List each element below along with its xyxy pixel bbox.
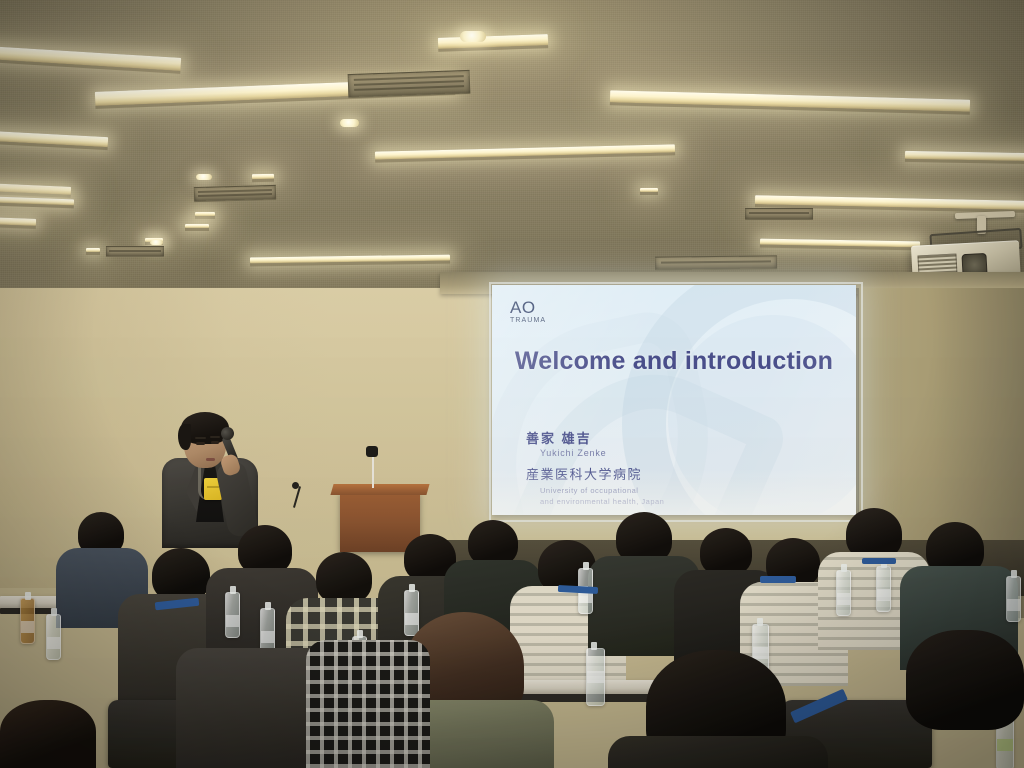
speaker-eye — [196, 442, 205, 445]
ceiling-light-strip — [905, 151, 1024, 161]
ceiling-light-strip — [86, 248, 100, 252]
conference-photo-scene: AO TRAUMA Welcome and introduction 善家 雄吉… — [0, 0, 1024, 768]
speaker-eyebrow — [210, 436, 220, 438]
ceiling-downlight — [340, 119, 359, 127]
speaker-hair — [178, 424, 191, 450]
ceiling-light-strip — [185, 224, 209, 228]
podium-top-surface — [330, 484, 429, 495]
ceiling-downlight — [460, 31, 486, 42]
speaker-eyebrow — [195, 437, 206, 439]
ceiling-light-strip — [640, 188, 658, 192]
audience-head — [906, 630, 1024, 730]
audience-head — [316, 552, 372, 604]
stage-microphone-icon — [292, 482, 299, 489]
ceiling-downlight — [196, 174, 212, 180]
water-bottle — [225, 592, 240, 638]
audience-lanyard — [760, 576, 796, 583]
audience-torso — [306, 640, 430, 768]
podium-microphone-icon — [366, 446, 378, 457]
screen-bottom-fade — [492, 469, 856, 515]
projection-screen: AO TRAUMA Welcome and introduction 善家 雄吉… — [492, 285, 856, 515]
speaker-eye — [211, 441, 219, 444]
water-bottle — [876, 566, 891, 612]
hvac-vent — [655, 255, 777, 270]
audience-torso — [608, 736, 828, 768]
hvac-vent — [348, 70, 471, 98]
ceiling-light-strip — [0, 217, 36, 226]
water-bottle — [46, 614, 61, 660]
ceiling — [0, 0, 1024, 292]
audience-head — [700, 528, 752, 576]
water-bottle — [1006, 576, 1021, 622]
audience-head — [0, 700, 96, 768]
speaker-mouth — [206, 458, 215, 461]
podium-microphone-stem — [372, 452, 374, 488]
hvac-vent — [106, 246, 164, 257]
water-bottle — [20, 598, 35, 644]
ceiling-light-strip — [195, 212, 215, 216]
hvac-vent — [194, 185, 276, 202]
water-bottle — [836, 570, 851, 616]
hvac-vent — [745, 208, 813, 220]
ceiling-downlight — [150, 240, 163, 245]
ceiling-light-strip — [252, 174, 274, 179]
water-bottle — [586, 648, 605, 706]
audience-lanyard — [862, 558, 896, 564]
water-bottle — [404, 590, 419, 636]
